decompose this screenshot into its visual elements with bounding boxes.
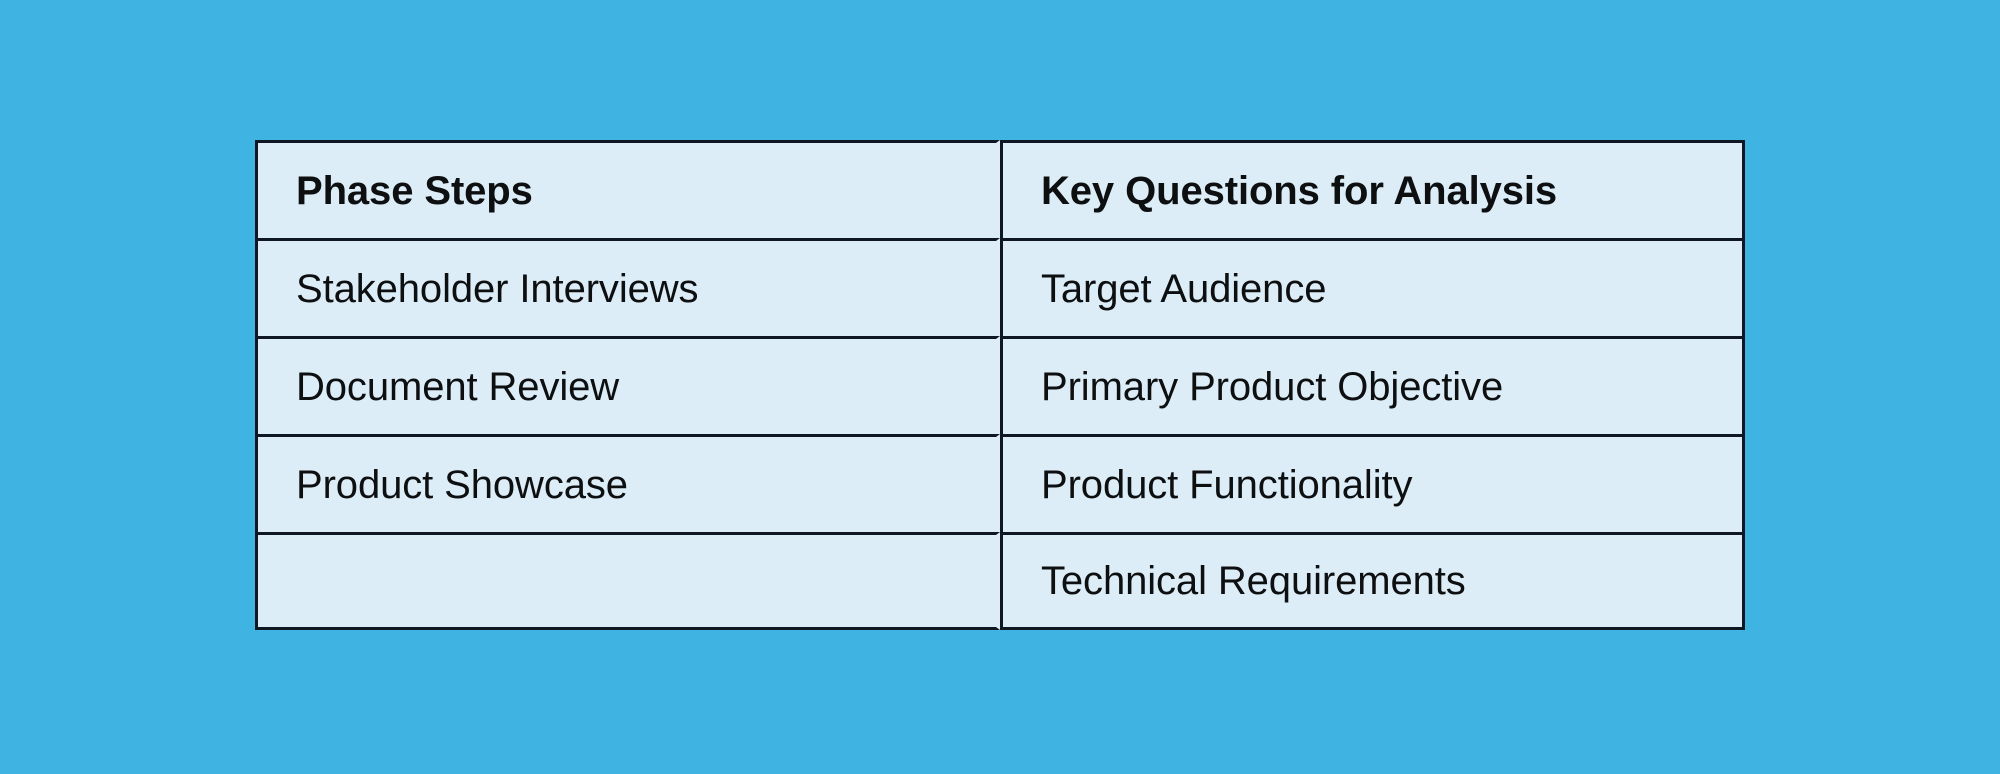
table-row: Document Review Primary Product Objectiv… [255,336,1745,434]
cell-phase-step-2: Document Review [255,336,1000,434]
table-row: Product Showcase Product Functionality [255,434,1745,532]
column-header-phase-steps: Phase Steps [255,140,1000,238]
cell-key-question-2: Primary Product Objective [1000,336,1745,434]
cell-phase-step-1: Stakeholder Interviews [255,238,1000,336]
table-row: Stakeholder Interviews Target Audience [255,238,1745,336]
table-header-row: Phase Steps Key Questions for Analysis [255,140,1745,238]
cell-key-question-1: Target Audience [1000,238,1745,336]
cell-key-question-4: Technical Requirements [1000,532,1745,630]
column-header-key-questions: Key Questions for Analysis [1000,140,1745,238]
cell-key-question-3: Product Functionality [1000,434,1745,532]
phase-steps-table: Phase Steps Key Questions for Analysis S… [255,140,1745,630]
cell-phase-step-4-empty [255,532,1000,630]
table-body: Phase Steps Key Questions for Analysis S… [255,140,1745,630]
cell-phase-step-3: Product Showcase [255,434,1000,532]
table-row: Technical Requirements [255,532,1745,630]
slide-canvas: Phase Steps Key Questions for Analysis S… [0,0,2000,774]
